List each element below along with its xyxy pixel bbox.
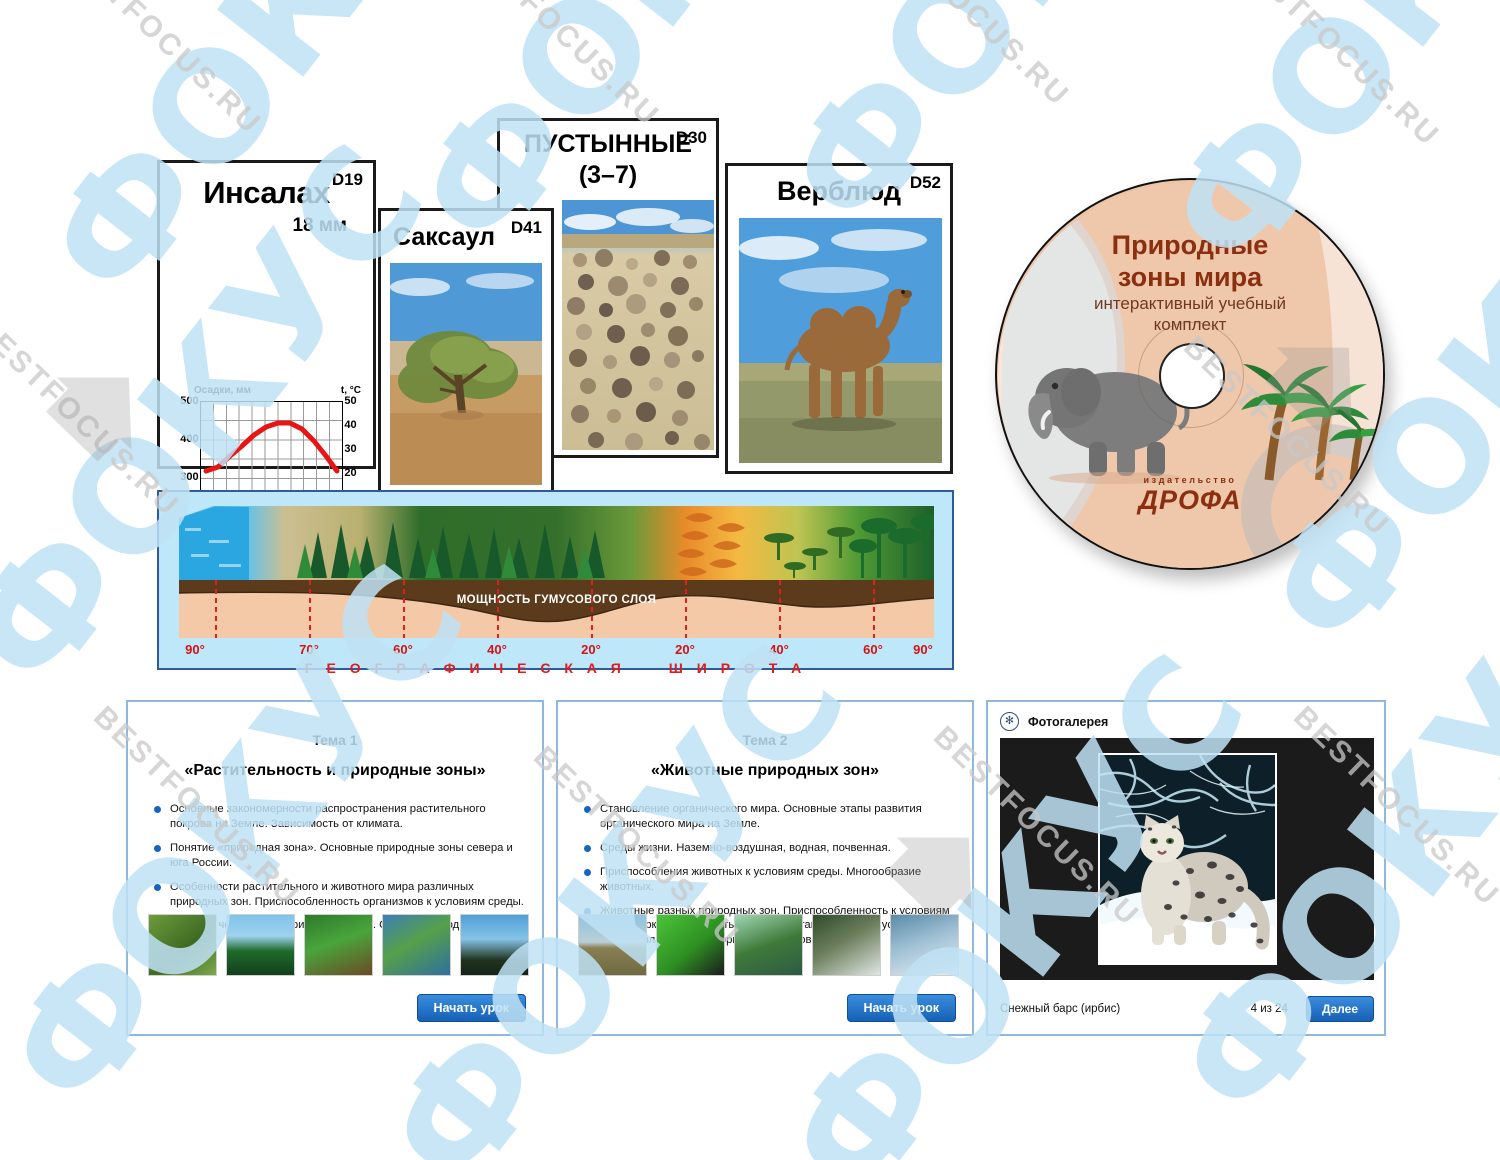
lat-tick (591, 580, 593, 638)
thumbnail-baobab-tree[interactable] (460, 914, 529, 976)
lat-label: 60° (863, 642, 883, 657)
watermark-logo-icon (24, 332, 176, 484)
thumbnail-camel[interactable] (578, 914, 647, 976)
ytick-left-400: 400 (180, 433, 198, 445)
card-code-d30: D30 (676, 128, 707, 148)
card-code-d52: D52 (910, 173, 941, 193)
list-item: Приспособления животных к условиям среды… (584, 865, 956, 895)
climate-precip-total: 18 мм (160, 215, 347, 237)
lat-tick (685, 580, 687, 638)
lat-label: 40° (487, 642, 507, 657)
geographic-latitude-caption: Г Е О Г Р А Ф И Ч Е С К А Я Ш И Р О Т А (159, 660, 952, 678)
panel2-thumbnails[interactable] (578, 914, 959, 976)
lat-tick (497, 580, 499, 638)
watermark-site: BESTFOCUS.RU (48, 0, 268, 142)
lat-label: 40° (769, 642, 789, 657)
thumbnail-spruce-forest[interactable] (226, 914, 295, 976)
panel2-theme-label: Тема 2 (558, 732, 972, 748)
thumbnail-flowering-shrub[interactable] (148, 914, 217, 976)
gallery-header: ✻ Фотогалерея (1000, 712, 1384, 731)
gallery-footer: Снежный барс (ирбис) 4 из 24 Далее (1000, 996, 1374, 1022)
climate-card: D19 Инсалах 18 мм Осадки, мм t, °C 500 4… (157, 160, 376, 469)
lat-label: 20° (581, 642, 601, 657)
list-item: Становление органического мира. Основные… (584, 802, 956, 832)
watermark-site: BESTFOCUS.RU (446, 0, 666, 134)
panel1-title: «Растительность и природные зоны» (128, 762, 542, 780)
lat-tick (779, 580, 781, 638)
start-lesson-button-2[interactable]: Начать урок (847, 994, 956, 1022)
ytick-right-40: 40 (344, 419, 356, 431)
axis-label-precipitation: Осадки, мм (194, 385, 251, 396)
list-item: Понятие «природная зона». Основные приро… (154, 841, 526, 871)
cd-publisher-name: ДРОФА (997, 485, 1383, 516)
cd-publisher: издательство ДРОФА (997, 475, 1383, 516)
cd-title: Природные зоны мира (997, 230, 1383, 294)
lat-label: 60° (393, 642, 413, 657)
card-code-d19: D19 (332, 170, 363, 190)
caption-geographic: Г Е О Г Р А Ф И Ч Е С К А Я (305, 660, 626, 676)
panel1-thumbnails[interactable] (148, 914, 529, 976)
gallery-title: Фотогалерея (1028, 715, 1108, 729)
watermark-site: BESTFOCUS.RU (1226, 0, 1446, 154)
photo-camel (739, 218, 942, 463)
humus-layer: МОЩНОСТЬ ГУМУСОВОГО СЛОЯ (179, 580, 934, 638)
humus-label: МОЩНОСТЬ ГУМУСОВОГО СЛОЯ (179, 594, 934, 606)
ytick-right-20: 20 (344, 467, 356, 479)
ytick-right-50: 50 (344, 395, 356, 407)
ytick-left-300: 300 (180, 471, 198, 483)
list-item: Основные закономерности распространения … (154, 802, 526, 832)
palm-trees-illustration (1241, 364, 1385, 480)
photo-gallery-panel[interactable]: ✻ Фотогалерея (986, 700, 1386, 1036)
panel1-theme-label: Тема 1 (128, 732, 542, 748)
lat-label: 70° (299, 642, 319, 657)
gallery-stage (1000, 738, 1374, 980)
card-camel: D52 Верблюд (725, 163, 953, 474)
list-item: Особенности растительного и животного ми… (154, 880, 526, 910)
thumbnail-butterfly[interactable] (656, 914, 725, 976)
panel2-title: «Животные природных зон» (558, 762, 972, 780)
ytick-left-500: 500 (180, 395, 198, 407)
photo-saxaul-tree (390, 263, 542, 485)
thumbnail-polar-bear-walking[interactable] (890, 914, 959, 976)
lat-label: 20° (675, 642, 695, 657)
lat-tick (403, 580, 405, 638)
snowflake-icon: ✻ (1000, 712, 1019, 731)
caption-latitude: Ш И Р О Т А (669, 660, 806, 676)
cd-disc: Природные зоны мира интерактивный учебны… (995, 178, 1385, 570)
lat-label: 90° (185, 642, 205, 657)
cd-publisher-label: издательство (997, 475, 1383, 485)
thumbnail-polar-bear-cub[interactable] (812, 914, 881, 976)
gallery-next-button[interactable]: Далее (1306, 996, 1374, 1022)
thumbnail-river-valley-aerial[interactable] (382, 914, 451, 976)
biome-band (179, 502, 934, 582)
gallery-caption: Снежный барс (ирбис) (1000, 1003, 1120, 1015)
card-title-desert-range: (3–7) (500, 161, 716, 190)
lat-tick (215, 580, 217, 638)
photo-stony-desert (562, 200, 714, 450)
list-item: Среды жизни. Наземно-воздушная, водная, … (584, 841, 956, 856)
ytick-right-30: 30 (344, 443, 356, 455)
start-lesson-button-1[interactable]: Начать урок (417, 994, 526, 1022)
watermark-site: BESTFOCUS.RU (856, 0, 1076, 114)
lesson-panel-theme2[interactable]: Тема 2 «Животные природных зон» Становле… (556, 700, 974, 1036)
lat-tick (873, 580, 875, 638)
lat-label: 90° (913, 642, 933, 657)
latitude-soil-diagram: МОЩНОСТЬ ГУМУСОВОГО СЛОЯ 90° 70° 60° 40°… (157, 490, 954, 670)
gallery-image-snow-leopard[interactable] (1098, 753, 1277, 965)
card-code-d41: D41 (511, 218, 542, 238)
card-saxaul: D41 Саксаул (378, 208, 554, 496)
thumbnail-lizard[interactable] (734, 914, 803, 976)
lesson-panel-theme1[interactable]: Тема 1 «Растительность и природные зоны»… (126, 700, 544, 1036)
thumbnail-green-meadow-lake[interactable] (304, 914, 373, 976)
lat-tick (309, 580, 311, 638)
cd-center-hole (1159, 343, 1225, 409)
gallery-counter: 4 из 24 (1251, 1003, 1288, 1015)
